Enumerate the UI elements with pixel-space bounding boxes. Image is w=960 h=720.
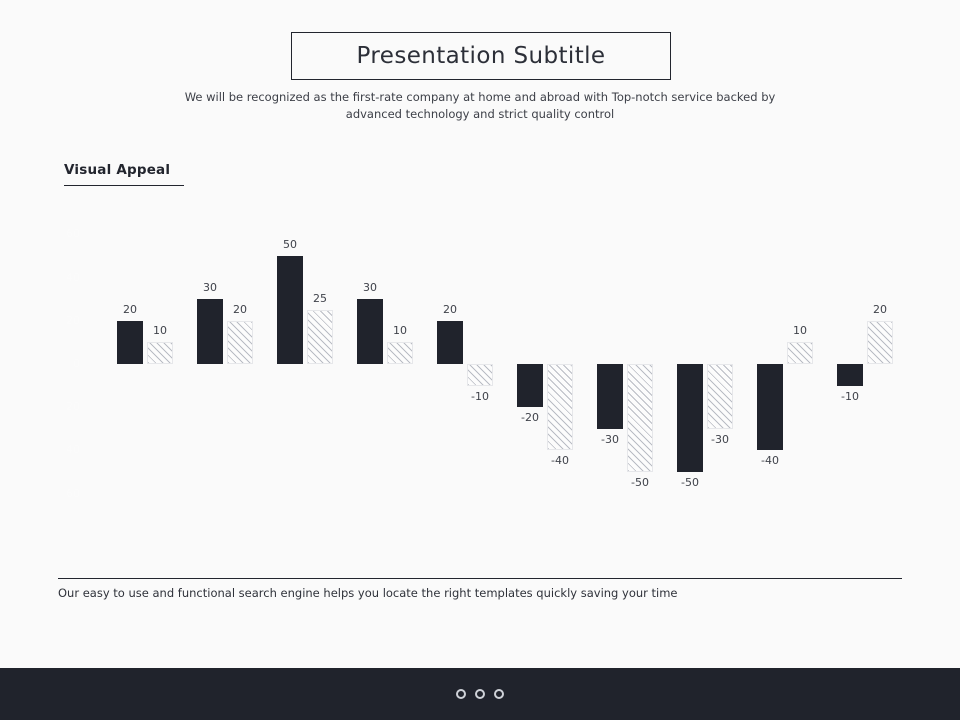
subtitle-text: We will be recognized as the first-rate …	[180, 89, 780, 123]
bar-hatched-7	[627, 364, 653, 472]
bar-hatched-8	[707, 364, 733, 429]
pagination-dots[interactable]	[456, 689, 504, 699]
pagination-dot-2-icon[interactable]	[475, 689, 485, 699]
bar-hatched-2	[227, 321, 253, 364]
bar-hatched-10	[867, 321, 893, 364]
bar-value-label-hatched-7: -50	[619, 477, 661, 489]
bar-value-label-solid-3: 50	[269, 239, 311, 251]
bar-solid-5	[437, 321, 463, 364]
bar-value-label-solid-10: -10	[829, 391, 871, 403]
bar-value-label-solid-9: -40	[749, 455, 791, 467]
y-axis-label-40: 40	[44, 272, 80, 283]
y-axis-label-neg60: -60	[44, 488, 80, 499]
bar-solid-3	[277, 256, 303, 364]
bar-value-label-hatched-9: 10	[779, 325, 821, 337]
bar-solid-9	[757, 364, 783, 450]
section-heading-underline	[64, 185, 184, 186]
page-title: Presentation Subtitle	[357, 43, 606, 69]
bar-value-label-hatched-8: -30	[699, 434, 741, 446]
y-axis-label-20: 20	[44, 315, 80, 326]
pagination-dot-3-icon[interactable]	[494, 689, 504, 699]
section-heading: Visual Appeal	[64, 162, 184, 178]
bar-solid-8	[677, 364, 703, 472]
y-axis-label-60: 60	[44, 228, 80, 239]
footer-divider	[58, 578, 902, 579]
bar-hatched-9	[787, 342, 813, 364]
bar-value-label-solid-1: 20	[109, 304, 151, 316]
bar-value-label-hatched-10: 20	[859, 304, 901, 316]
bar-chart: 6040200-20-40-60201030205025301020-10-20…	[0, 200, 960, 520]
bar-hatched-4	[387, 342, 413, 364]
bar-solid-7	[597, 364, 623, 429]
bar-value-label-solid-8: -50	[669, 477, 711, 489]
slide-canvas: Presentation Subtitle We will be recogni…	[0, 0, 960, 668]
bar-value-label-solid-6: -20	[509, 412, 551, 424]
bar-solid-10	[837, 364, 863, 386]
bar-hatched-3	[307, 310, 333, 364]
bar-value-label-hatched-2: 20	[219, 304, 261, 316]
bar-value-label-hatched-3: 25	[299, 293, 341, 305]
title-box: Presentation Subtitle	[291, 32, 671, 80]
bar-value-label-solid-2: 30	[189, 282, 231, 294]
footer-bar	[0, 668, 960, 720]
pagination-dot-1-icon[interactable]	[456, 689, 466, 699]
bar-hatched-1	[147, 342, 173, 364]
footer-caption: Our easy to use and functional search en…	[58, 586, 918, 600]
bar-value-label-hatched-4: 10	[379, 325, 421, 337]
bar-solid-6	[517, 364, 543, 407]
bar-value-label-hatched-1: 10	[139, 325, 181, 337]
y-axis-label-0: 0	[44, 358, 80, 369]
bar-value-label-solid-4: 30	[349, 282, 391, 294]
bar-hatched-6	[547, 364, 573, 450]
bar-value-label-hatched-5: -10	[459, 391, 501, 403]
y-axis-label-neg20: -20	[44, 401, 80, 412]
y-axis-label-neg40: -40	[44, 444, 80, 455]
bar-value-label-solid-5: 20	[429, 304, 471, 316]
bar-value-label-solid-7: -30	[589, 434, 631, 446]
bar-hatched-5	[467, 364, 493, 386]
bar-value-label-hatched-6: -40	[539, 455, 581, 467]
